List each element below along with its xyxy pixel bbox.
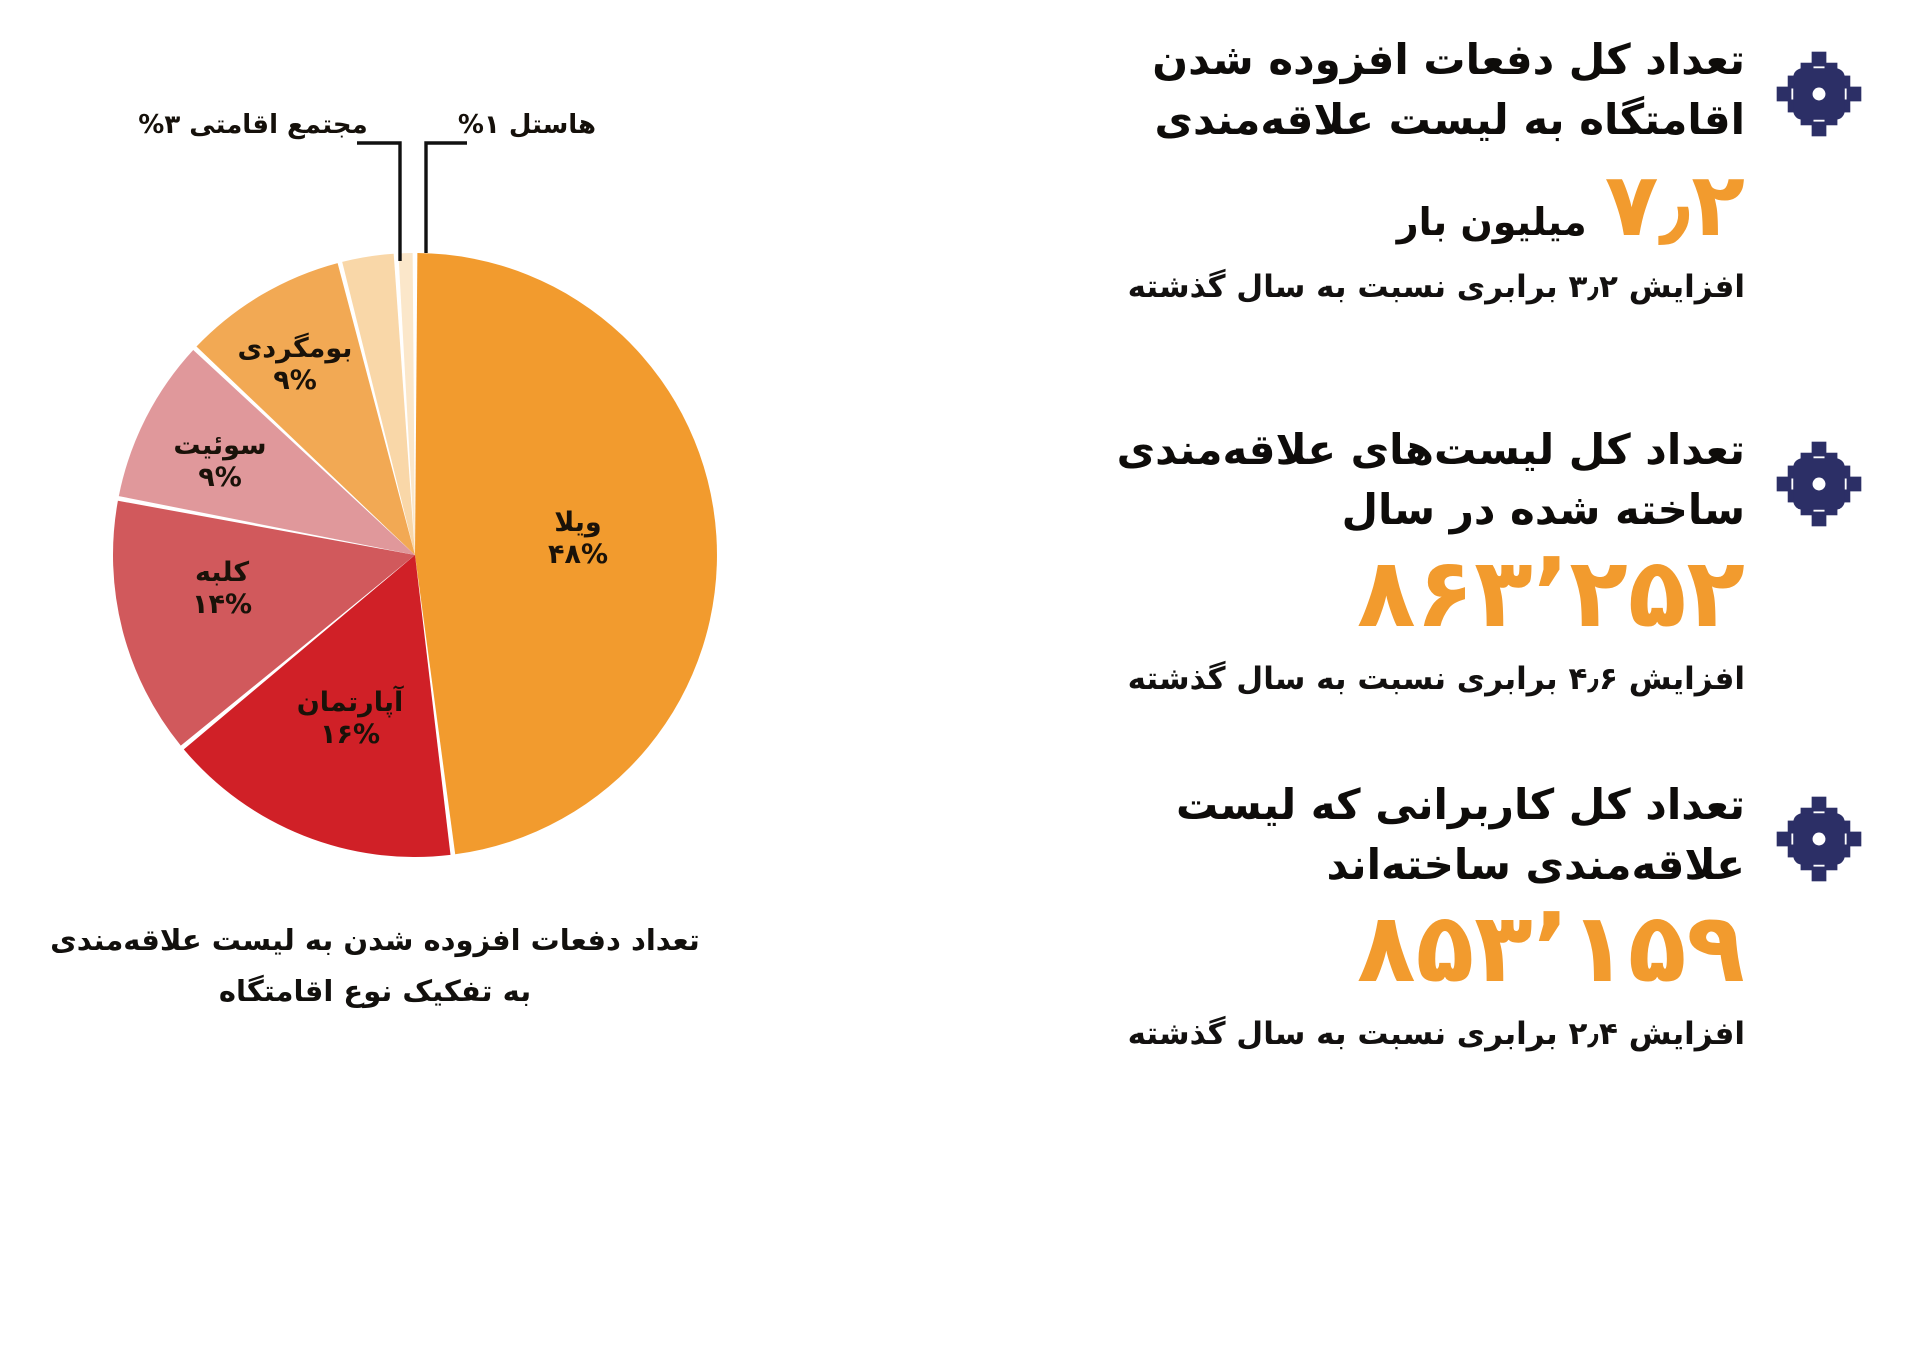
stat-number: ۸۵۳٬۱۵۹ bbox=[1357, 898, 1745, 999]
callout-label-hostel-value: ۱% bbox=[458, 110, 500, 140]
stat-value-row: ۸۶۳٬۲۵۲ bbox=[871, 543, 1745, 644]
callout-label-complex-name: مجتمع اقامتی bbox=[189, 110, 367, 140]
stat-sub-prefix: افزایش bbox=[1629, 269, 1745, 305]
slice-label-villa: ویلا ۴۸% bbox=[493, 507, 663, 571]
stat-value-row: ۷٫۲ میلیون بار bbox=[871, 159, 1745, 251]
stat-subtext: افزایش ۳٫۲ برابری نسبت به سال گذشته bbox=[871, 266, 1745, 309]
stat-title-line2: اقامتگاه به لیست علاقه‌مندی bbox=[871, 90, 1745, 150]
stat-sub-factor: ۴٫۶ bbox=[1568, 661, 1617, 697]
pie-chart: ویلا ۴۸% آپارتمان ۱۶% کلبه ۱۴% سوئیت ۹% … bbox=[95, 235, 735, 875]
slice-label-suite-value: ۹% bbox=[135, 462, 305, 494]
stat-unit: میلیون بار bbox=[1397, 200, 1587, 244]
slice-label-suite-name: سوئیت bbox=[135, 430, 305, 462]
leader-line-mojtame bbox=[357, 143, 400, 261]
stat-sub-factor: ۳٫۲ bbox=[1568, 269, 1617, 305]
stat-subtext: افزایش ۴٫۶ برابری نسبت به سال گذشته bbox=[871, 658, 1745, 701]
slice-label-ecolodge-name: بومگردی bbox=[200, 333, 390, 365]
slice-label-ecolodge-value: ۹% bbox=[200, 365, 390, 397]
stat-sub-prefix: افزایش bbox=[1629, 661, 1745, 697]
slice-label-villa-value: ۴۸% bbox=[493, 539, 663, 571]
chart-caption-line1: تعداد دفعات افزوده شدن به لیست علاقه‌مند… bbox=[40, 915, 710, 966]
callout-label-complex-value: ۳% bbox=[138, 110, 180, 140]
stat-body: تعداد کل کاربرانی که لیست علاقه‌مندی ساخ… bbox=[865, 775, 1745, 1056]
chart-caption: تعداد دفعات افزوده شدن به لیست علاقه‌مند… bbox=[40, 915, 710, 1017]
stat-sub-suffix: برابری نسبت به سال گذشته bbox=[1128, 1016, 1558, 1052]
infographic-page: ویلا ۴۸% آپارتمان ۱۶% کلبه ۱۴% سوئیت ۹% … bbox=[0, 0, 1920, 1361]
stat-sub-suffix: برابری نسبت به سال گذشته bbox=[1128, 269, 1558, 305]
callout-label-hostel: هاستل ۱% bbox=[447, 110, 607, 141]
stat-body: تعداد کل لیست‌های علاقه‌مندی ساخته شده د… bbox=[865, 420, 1745, 701]
stat-title-line1: تعداد کل کاربرانی که لیست bbox=[871, 775, 1745, 835]
stat-value-row: ۸۵۳٬۱۵۹ bbox=[871, 898, 1745, 999]
stat-block-favorites-total: تعداد کل دفعات افزوده شدن اقامتگاه به لی… bbox=[865, 30, 1865, 309]
stat-number: ۷٫۲ bbox=[1605, 159, 1745, 251]
slice-label-cabin-value: ۱۴% bbox=[137, 589, 307, 621]
stat-title-line2: ساخته شده در سال bbox=[871, 480, 1745, 540]
chart-caption-line2: به تفکیک نوع اقامتگاه bbox=[40, 966, 710, 1017]
stat-title: تعداد کل دفعات افزوده شدن اقامتگاه به لی… bbox=[871, 30, 1745, 149]
stat-title-line1: تعداد کل لیست‌های علاقه‌مندی bbox=[871, 420, 1745, 480]
stat-sub-factor: ۲٫۴ bbox=[1568, 1016, 1617, 1052]
slice-label-villa-name: ویلا bbox=[493, 507, 663, 539]
flower-ornament-icon-svg bbox=[1773, 793, 1865, 885]
slice-label-suite: سوئیت ۹% bbox=[135, 430, 305, 494]
slice-label-apartment: آپارتمان ۱۶% bbox=[255, 687, 445, 751]
leader-line-hostel bbox=[426, 143, 467, 253]
stat-number: ۸۶۳٬۲۵۲ bbox=[1357, 543, 1745, 644]
flower-ornament-icon bbox=[1773, 48, 1865, 140]
stat-subtext: افزایش ۲٫۴ برابری نسبت به سال گذشته bbox=[871, 1013, 1745, 1056]
slice-label-apartment-name: آپارتمان bbox=[255, 687, 445, 719]
slice-label-apartment-value: ۱۶% bbox=[255, 719, 445, 751]
callout-label-complex: مجتمع اقامتی ۳% bbox=[123, 110, 383, 141]
stat-block-users-with-lists: تعداد کل کاربرانی که لیست علاقه‌مندی ساخ… bbox=[865, 775, 1865, 1056]
flower-ornament-icon bbox=[1773, 438, 1865, 530]
slice-label-cabin: کلبه ۱۴% bbox=[137, 557, 307, 621]
flower-ornament-icon-svg bbox=[1773, 438, 1865, 530]
stat-sub-prefix: افزایش bbox=[1629, 1016, 1745, 1052]
stat-title-line1: تعداد کل دفعات افزوده شدن bbox=[871, 30, 1745, 90]
stat-title: تعداد کل لیست‌های علاقه‌مندی ساخته شده د… bbox=[871, 420, 1745, 539]
stat-body: تعداد کل دفعات افزوده شدن اقامتگاه به لی… bbox=[865, 30, 1745, 309]
pie-chart-panel: ویلا ۴۸% آپارتمان ۱۶% کلبه ۱۴% سوئیت ۹% … bbox=[0, 0, 840, 1361]
flower-ornament-icon bbox=[1773, 793, 1865, 885]
stat-title-line2: علاقه‌مندی ساخته‌اند bbox=[871, 835, 1745, 895]
slice-label-ecolodge: بومگردی ۹% bbox=[200, 333, 390, 397]
callout-leader-lines bbox=[357, 143, 467, 261]
stat-title: تعداد کل کاربرانی که لیست علاقه‌مندی ساخ… bbox=[871, 775, 1745, 894]
stat-sub-suffix: برابری نسبت به سال گذشته bbox=[1128, 661, 1558, 697]
callout-label-hostel-name: هاستل bbox=[509, 110, 596, 140]
stat-block-lists-created: تعداد کل لیست‌های علاقه‌مندی ساخته شده د… bbox=[865, 420, 1865, 701]
flower-ornament-icon-svg bbox=[1773, 48, 1865, 140]
stats-panel: تعداد کل دفعات افزوده شدن اقامتگاه به لی… bbox=[840, 0, 1920, 1361]
slice-label-cabin-name: کلبه bbox=[137, 557, 307, 589]
